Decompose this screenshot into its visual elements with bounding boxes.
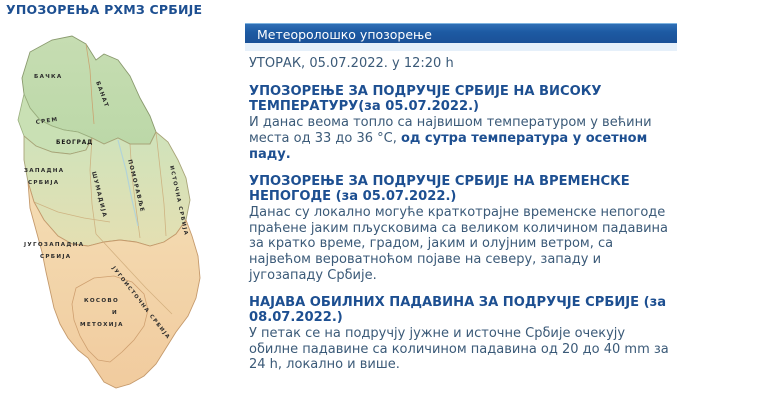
- alerts-list: УПОЗОРЕЊЕ ЗА ПОДРУЧЈЕ СРБИЈЕ НА ВИСОКУ Т…: [249, 84, 675, 384]
- alert-datetime: УТОРАК, 05.07.2022. у 12:20 h: [249, 56, 454, 71]
- alert-block-heavy-rainfall: НАЈАВА ОБИЛНИХ ПАДАВИНА ЗА ПОДРУЧЈЕ СРБИ…: [249, 295, 675, 374]
- alert-heading: УПОЗОРЕЊЕ ЗА ПОДРУЧЈЕ СРБИЈЕ НА ВИСОКУ Т…: [249, 84, 675, 114]
- meteo-warning-header-bar: Метеоролошко упозорење: [245, 23, 677, 43]
- alert-heading: НАЈАВА ОБИЛНИХ ПАДАВИНА ЗА ПОДРУЧЈЕ СРБИ…: [249, 295, 675, 325]
- map-label-backa: БАЧКА: [34, 74, 63, 80]
- map-label-zapadna-srbija-2: СРБИЈА: [28, 180, 59, 186]
- content-panel: Метеоролошко упозорење УТОРАК, 05.07.202…: [240, 0, 770, 420]
- map-label-jugozapadna-srbija-2: СРБИЈА: [40, 254, 71, 260]
- alert-body: Данас су локално могуће краткотрајне вре…: [249, 205, 675, 284]
- map-label-jugozapadna-srbija-1: ЈУГОЗАПАДНА: [23, 242, 84, 248]
- map-label-kosovo-3: МЕТОХИЈА: [80, 322, 124, 328]
- map-label-kosovo-2: И: [112, 310, 118, 316]
- page-title: УПОЗОРЕЊА РХМЗ СРБИЈЕ: [6, 2, 202, 17]
- alert-body: У петак се на подручју јужне и источне С…: [249, 326, 675, 373]
- map-label-beograd: БЕОГРАД: [56, 140, 93, 146]
- alert-body-text: Данас су локално могуће краткотрајне вре…: [249, 205, 668, 283]
- alert-body-text: У петак се на подручју јужне и источне С…: [249, 326, 669, 372]
- serbia-regions-map: БАЧКА БАНАТ СРЕМ БЕОГРАД ЗАПАДНА СРБИЈА …: [0, 20, 236, 420]
- header-underband: [245, 43, 677, 51]
- map-label-kosovo-1: КОСОВО: [84, 298, 119, 304]
- alert-heading: УПОЗОРЕЊЕ ЗА ПОДРУЧЈЕ СРБИЈЕ НА ВРЕМЕНСК…: [249, 174, 675, 204]
- meteo-warning-header-title: Метеоролошко упозорење: [257, 27, 432, 42]
- alert-block-severe-weather: УПОЗОРЕЊЕ ЗА ПОДРУЧЈЕ СРБИЈЕ НА ВРЕМЕНСК…: [249, 174, 675, 284]
- alert-block-high-temperature: УПОЗОРЕЊЕ ЗА ПОДРУЧЈЕ СРБИЈЕ НА ВИСОКУ Т…: [249, 84, 675, 163]
- alert-body: И данас веома топло са највишом температ…: [249, 115, 675, 162]
- map-label-zapadna-srbija-1: ЗАПАДНА: [24, 168, 64, 174]
